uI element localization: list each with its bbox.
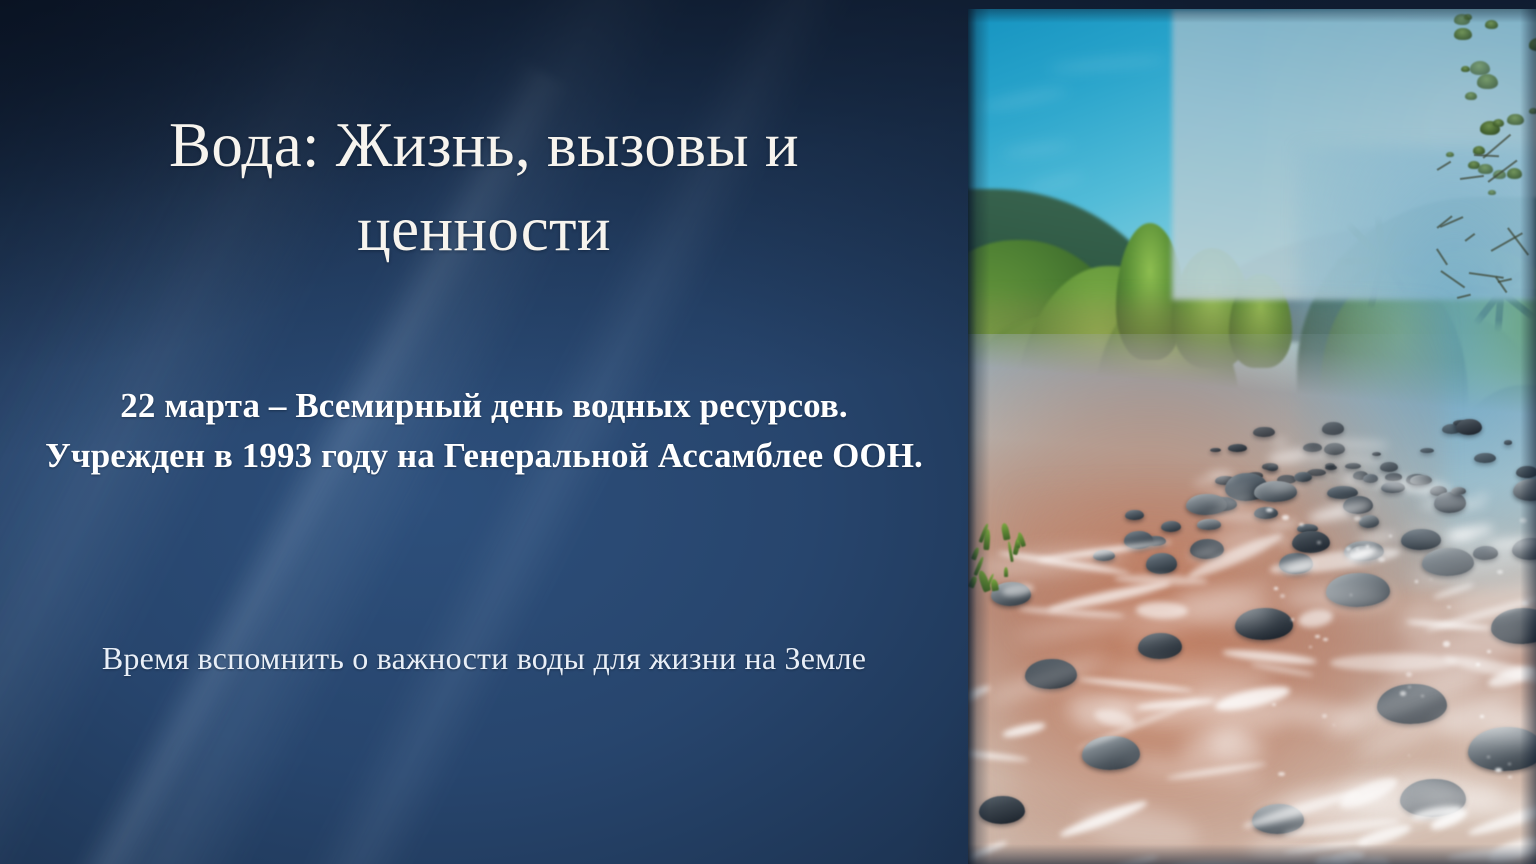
slide-body-text: 22 марта – Всемирный день водных ресурсо… bbox=[40, 381, 928, 480]
overhanging-leaves bbox=[1461, 66, 1469, 72]
water-sparkle bbox=[1346, 547, 1351, 551]
river-boulder bbox=[1513, 479, 1536, 501]
river-photo-content bbox=[968, 9, 1536, 864]
river-boulder bbox=[979, 796, 1025, 824]
water-sparkle bbox=[1278, 772, 1285, 777]
river-rock bbox=[1125, 510, 1143, 520]
overhanging-leaves bbox=[1454, 14, 1470, 25]
river-rock bbox=[1146, 553, 1178, 574]
water-sparkle bbox=[1447, 606, 1450, 608]
water-sparkle bbox=[1309, 646, 1312, 648]
river-rock bbox=[1516, 466, 1536, 478]
water-sparkle bbox=[1266, 508, 1273, 513]
water-sparkle bbox=[1280, 594, 1285, 598]
water-sparkle bbox=[1350, 594, 1352, 595]
overhanging-leaves bbox=[1454, 28, 1472, 41]
water-sparkle bbox=[1322, 714, 1327, 718]
water-sparkle bbox=[1415, 580, 1418, 582]
water-sparkle bbox=[1487, 650, 1491, 653]
overhanging-leaves bbox=[1488, 190, 1496, 195]
water-sparkle bbox=[1282, 515, 1289, 520]
river-rock bbox=[1420, 448, 1434, 453]
river-rock bbox=[1372, 452, 1381, 456]
overhanging-leaves bbox=[1507, 168, 1522, 179]
water-sparkle bbox=[1356, 548, 1359, 550]
river-photo bbox=[968, 9, 1536, 864]
river-rock bbox=[1197, 519, 1221, 529]
river-rock bbox=[1359, 515, 1380, 528]
overhanging-leaves bbox=[1470, 61, 1490, 75]
water-sparkle bbox=[1408, 686, 1410, 688]
water-sparkle bbox=[1323, 638, 1328, 641]
water-sparkle bbox=[1487, 756, 1490, 758]
water-sparkle bbox=[1408, 755, 1410, 757]
water-sparkle bbox=[1480, 715, 1484, 717]
river-rock bbox=[1325, 463, 1335, 468]
overhanging-leaves bbox=[1485, 20, 1498, 29]
water-sparkle bbox=[1508, 763, 1511, 765]
overhanging-leaves bbox=[1529, 108, 1536, 114]
slide-text-panel: Вода: Жизнь, вызовы и ценности 22 марта … bbox=[0, 0, 968, 864]
river-rock bbox=[1380, 462, 1398, 472]
water-sparkle bbox=[1497, 570, 1503, 574]
overhanging-leaves bbox=[1465, 92, 1477, 100]
slide-title: Вода: Жизнь, вызовы и ценности bbox=[40, 104, 928, 272]
water-sparkle bbox=[1291, 618, 1294, 620]
river-rock bbox=[1228, 444, 1247, 452]
water-sparkle bbox=[1400, 691, 1406, 695]
presentation-slide: Вода: Жизнь, вызовы и ценности 22 марта … bbox=[0, 0, 1536, 864]
water-sparkle bbox=[1443, 641, 1450, 646]
overhanging-leaves bbox=[1493, 119, 1504, 127]
river-rock bbox=[1322, 422, 1344, 434]
overhanging-leaves bbox=[1529, 38, 1536, 51]
water-sparkle bbox=[1520, 518, 1526, 522]
river-boulder bbox=[1292, 531, 1330, 553]
overhanging-leaves bbox=[1478, 164, 1492, 174]
water-sparkle bbox=[1476, 663, 1480, 666]
water-sparkle bbox=[1274, 587, 1278, 590]
overhanging-leaves bbox=[1477, 74, 1498, 89]
river-rock bbox=[1504, 440, 1513, 444]
water-sparkle bbox=[1333, 724, 1335, 726]
overhanging-leaves bbox=[1507, 114, 1524, 126]
overhanging-leaves bbox=[1446, 152, 1454, 158]
slide-tagline: Время вспомнить о важности воды для жизн… bbox=[40, 636, 928, 681]
water-sparkle bbox=[1389, 535, 1392, 537]
water-sparkle bbox=[1421, 695, 1424, 697]
